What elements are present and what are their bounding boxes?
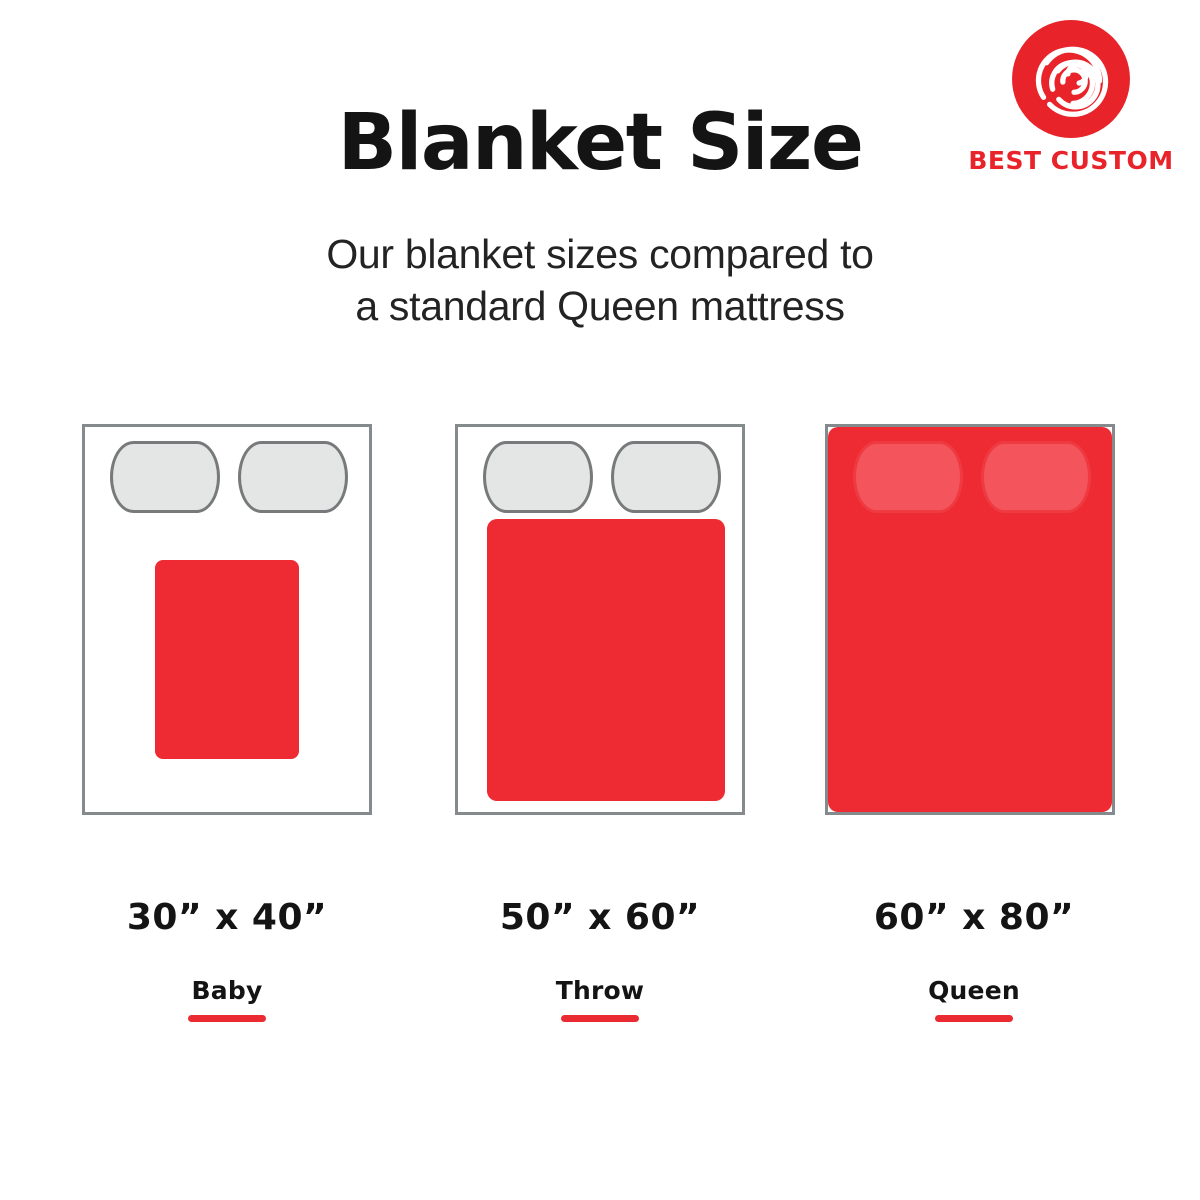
accent-underline xyxy=(561,1015,639,1022)
subtitle-line-2: a standard Queen mattress xyxy=(0,280,1200,332)
bed-diagram-throw xyxy=(455,424,745,815)
caption-baby: 30” x 40” Baby xyxy=(77,900,377,1022)
size-name-baby: Baby xyxy=(77,978,377,1003)
accent-underline xyxy=(188,1015,266,1022)
caption-throw: 50” x 60” Throw xyxy=(450,900,750,1022)
dimensions-label-queen: 60” x 80” xyxy=(824,900,1124,936)
pillow-right-icon xyxy=(238,441,348,513)
pillow-right-icon xyxy=(981,441,1091,513)
mattress-outline-baby xyxy=(85,427,369,812)
bed-diagram-baby xyxy=(82,424,372,815)
subtitle-line-1: Our blanket sizes compared to xyxy=(0,228,1200,280)
size-captions-row: 30” x 40” Baby 50” x 60” Throw 60” x 80”… xyxy=(0,900,1200,1040)
pillow-right-icon xyxy=(611,441,721,513)
infographic-canvas: BEST CUSTOM Blanket Size Our blanket siz… xyxy=(0,0,1200,1200)
mattress-outline-queen xyxy=(828,427,1112,812)
pillow-left-icon xyxy=(110,441,220,513)
mattress-outline-throw xyxy=(458,427,742,812)
pillow-left-icon xyxy=(483,441,593,513)
caption-queen: 60” x 80” Queen xyxy=(824,900,1124,1022)
pillow-left-icon xyxy=(853,441,963,513)
bed-comparison-row xyxy=(0,424,1200,824)
bed-diagram-queen xyxy=(825,424,1115,815)
blanket-baby xyxy=(155,560,299,759)
accent-underline xyxy=(935,1015,1013,1022)
size-name-queen: Queen xyxy=(824,978,1124,1003)
page-title: Blanket Size xyxy=(0,104,1200,182)
size-name-throw: Throw xyxy=(450,978,750,1003)
page-subtitle: Our blanket sizes compared to a standard… xyxy=(0,228,1200,333)
blanket-throw xyxy=(487,519,725,801)
dimensions-label-throw: 50” x 60” xyxy=(450,900,750,936)
dimensions-label-baby: 30” x 40” xyxy=(77,900,377,936)
